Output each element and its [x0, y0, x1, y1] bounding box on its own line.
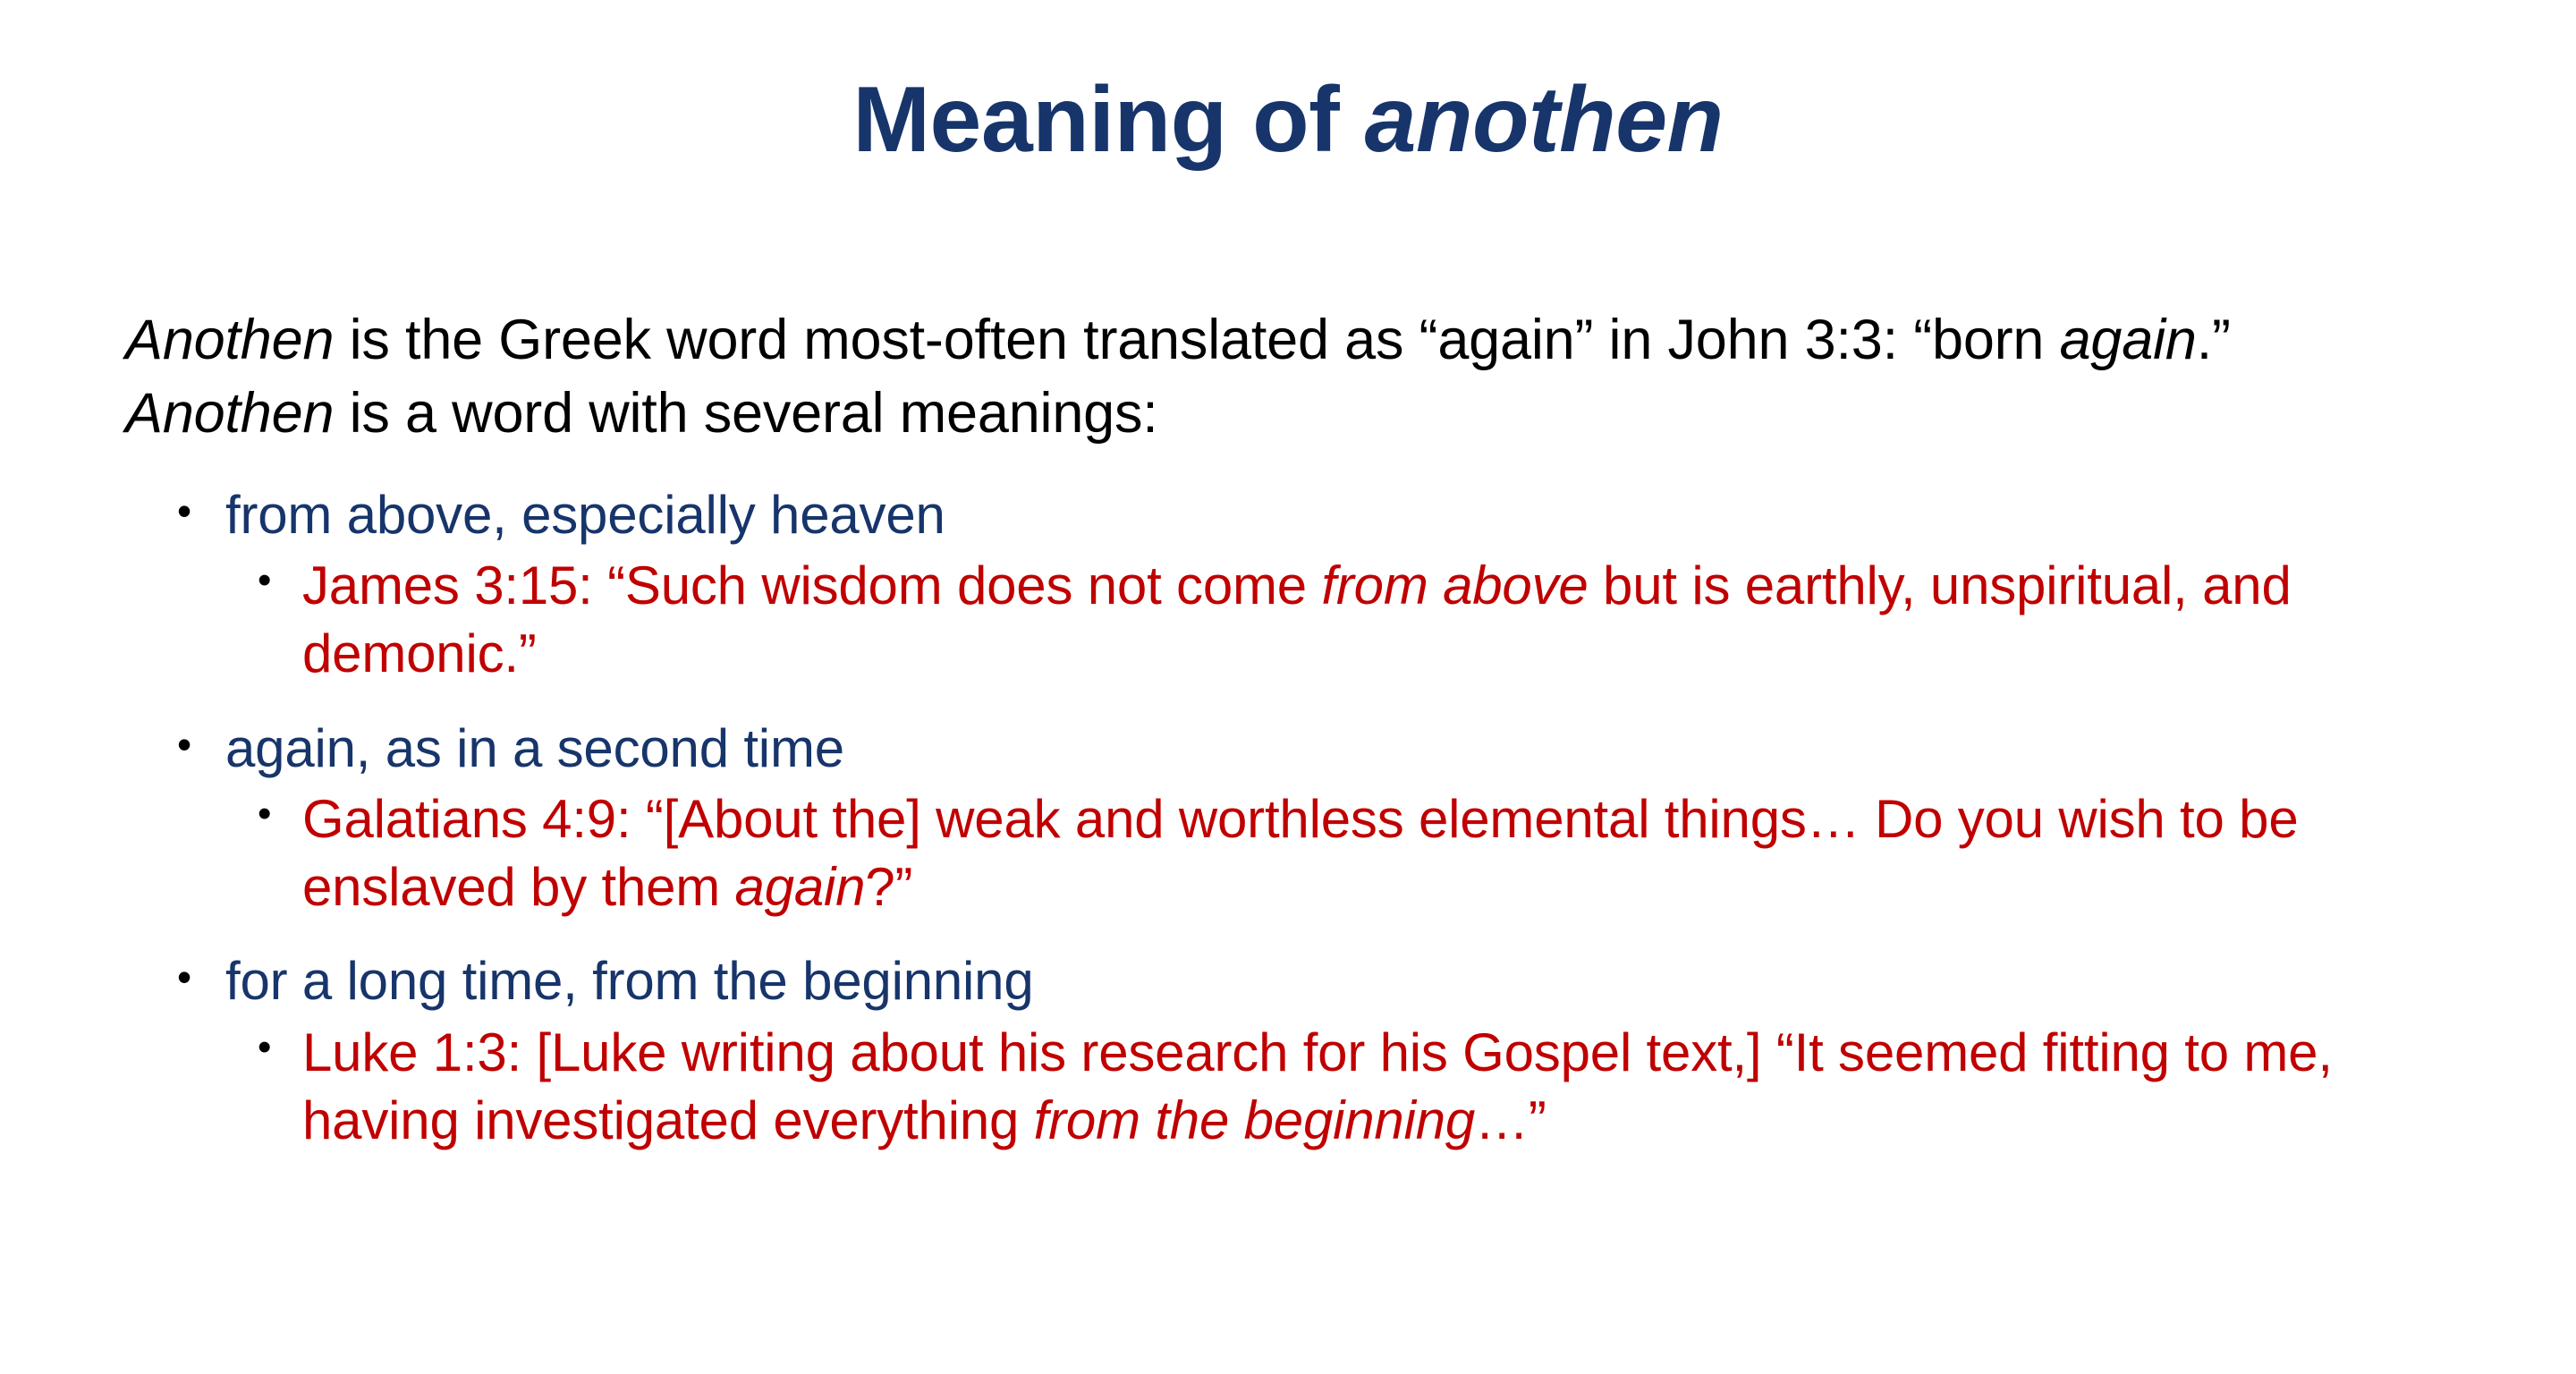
intro-seg6: is a word with several meanings:	[334, 382, 1157, 445]
scripture-seg1: Galatians 4:9: “[About the] weak and wor…	[302, 789, 2299, 917]
bullet-level1: •for a long time, from the beginning	[170, 947, 2469, 1015]
scripture-seg2-italic: from the beginning	[1034, 1090, 1475, 1150]
bullet-level1: •from above, especially heaven	[170, 481, 2469, 549]
bullet-group: •again, as in a second time •Galatians 4…	[125, 715, 2469, 921]
scripture-seg3: ?”	[865, 857, 912, 917]
presentation-slide: Meaning of anothen Anothen is the Greek …	[0, 0, 2576, 1374]
bullet-level1-label: for a long time, from the beginning	[225, 951, 1034, 1011]
bullet-dot-icon: •	[258, 552, 271, 608]
bullet-dot-icon: •	[177, 481, 191, 540]
bullet-group: •from above, especially heaven •James 3:…	[125, 481, 2469, 688]
bullet-dot-icon: •	[258, 1019, 271, 1075]
intro-seg4: .”	[2197, 309, 2231, 371]
bullet-dot-icon: •	[177, 947, 191, 1006]
intro-seg5: Anothen	[125, 382, 334, 445]
scripture-seg1: James 3:15: “Such wisdom does not come	[302, 556, 1321, 615]
intro-seg2: is the Greek word most-often translated …	[334, 309, 2059, 371]
scripture-seg2-italic: from above	[1321, 556, 1588, 615]
intro-paragraph: Anothen is the Greek word most-often tra…	[125, 304, 2451, 451]
slide-body: Anothen is the Greek word most-often tra…	[125, 304, 2469, 1154]
scripture-seg3: …”	[1475, 1090, 1546, 1150]
bullet-dot-icon: •	[258, 785, 271, 842]
intro-seg1: Anothen	[125, 309, 334, 371]
bullet-group: •for a long time, from the beginning •Lu…	[125, 947, 2469, 1154]
bullet-level2: •James 3:15: “Such wisdom does not come …	[250, 552, 2469, 687]
bullet-level1-label: from above, especially heaven	[225, 485, 945, 545]
bullet-level2: •Galatians 4:9: “[About the] weak and wo…	[250, 785, 2469, 920]
intro-seg3: again	[2060, 309, 2197, 371]
scripture-seg2-italic: again	[735, 857, 866, 917]
bullet-level1: •again, as in a second time	[170, 715, 2469, 783]
slide-title-prefix: Meaning of	[852, 68, 1364, 172]
bullet-dot-icon: •	[177, 715, 191, 774]
bullet-level2: •Luke 1:3: [Luke writing about his resea…	[250, 1019, 2469, 1154]
slide-title: Meaning of anothen	[0, 72, 2576, 169]
slide-title-italic-term: anothen	[1365, 68, 1724, 172]
bullet-level1-label: again, as in a second time	[225, 718, 844, 778]
